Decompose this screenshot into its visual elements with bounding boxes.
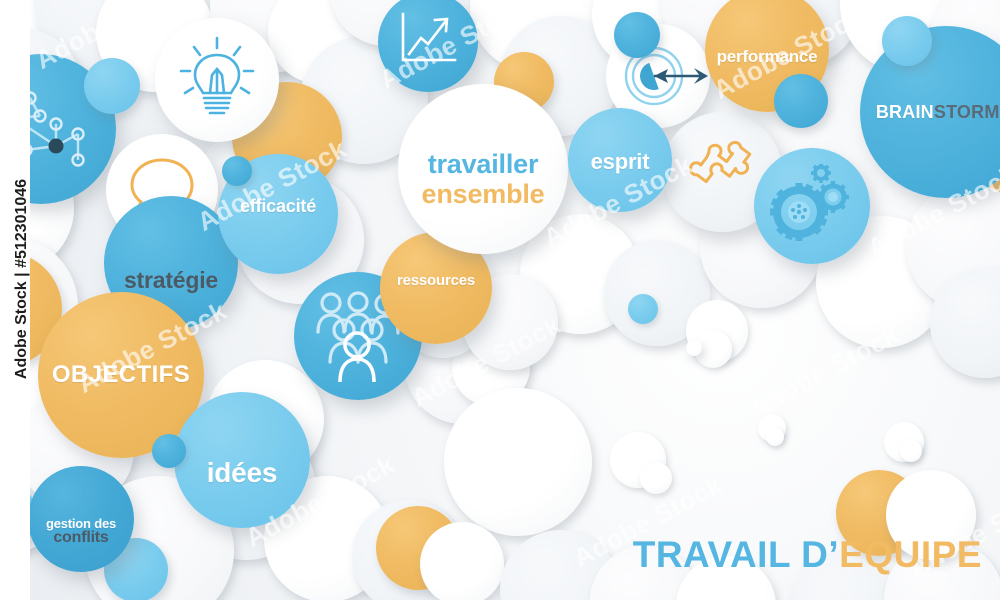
bubble-travailler-ensemble[interactable]: travailler ensemble bbox=[398, 84, 568, 254]
bubble-idees[interactable]: idées bbox=[174, 392, 310, 528]
bubble-label: OBJECTIFS bbox=[52, 362, 190, 387]
decor-circle bbox=[222, 156, 252, 186]
stock-id-strip: Adobe Stock | #512301046 bbox=[0, 0, 30, 600]
decor-circle bbox=[640, 462, 672, 494]
bubble-esprit[interactable]: esprit bbox=[568, 108, 672, 212]
lightbulb-icon-circle[interactable] bbox=[155, 18, 279, 142]
bubble-label: stratégie bbox=[124, 268, 218, 292]
decor-circle bbox=[774, 74, 828, 128]
poster-canvas: stratégie efficacité OBJECTIFS idées res… bbox=[0, 0, 1000, 600]
decor-circle bbox=[900, 440, 922, 462]
decor-circle bbox=[444, 388, 592, 536]
bubble-label-line2: ensemble bbox=[422, 180, 545, 208]
bubble-label-line1: travailler bbox=[428, 150, 539, 178]
decor-circle bbox=[614, 12, 660, 58]
bubble-label-part-b: STORMING bbox=[934, 102, 1000, 122]
bubble-label: esprit bbox=[591, 150, 650, 173]
decor-circle bbox=[628, 294, 658, 324]
page-title: TRAVAIL D’EQUIPE bbox=[633, 534, 982, 576]
bubble-label: idées bbox=[207, 458, 278, 487]
decor-circle bbox=[882, 16, 932, 66]
decor-circle bbox=[420, 522, 504, 600]
bubble-label: efficacité bbox=[240, 197, 316, 216]
gears-icon bbox=[769, 164, 855, 246]
bubble-label: performance bbox=[717, 48, 818, 66]
bubble-label: BRAINSTORMING bbox=[876, 103, 1000, 122]
growth-icon-circle[interactable] bbox=[378, 0, 478, 92]
puzzle-piece-icon bbox=[684, 128, 760, 204]
decor-circle bbox=[84, 58, 140, 114]
growth-chart-icon bbox=[397, 10, 459, 70]
bubble-label: ressources bbox=[397, 273, 475, 289]
page-title-part-blue: TRAVAIL D’ bbox=[633, 534, 839, 575]
bubble-label-part-a: BRAIN bbox=[876, 102, 934, 122]
gears-icon-circle[interactable] bbox=[754, 148, 870, 264]
lightbulb-icon bbox=[176, 35, 258, 121]
bubble-label-line2: conflits bbox=[53, 530, 108, 547]
bubble-label-line1: gestion des bbox=[46, 517, 116, 531]
decor-circle bbox=[686, 340, 702, 356]
decor-circle bbox=[152, 434, 186, 468]
decor-circle bbox=[766, 428, 784, 446]
bubble-gestion-conflits[interactable]: gestion des conflits bbox=[28, 466, 134, 572]
stock-id-label: Adobe Stock | #512301046 bbox=[13, 139, 31, 419]
page-title-part-orange: EQUIPE bbox=[839, 534, 982, 575]
